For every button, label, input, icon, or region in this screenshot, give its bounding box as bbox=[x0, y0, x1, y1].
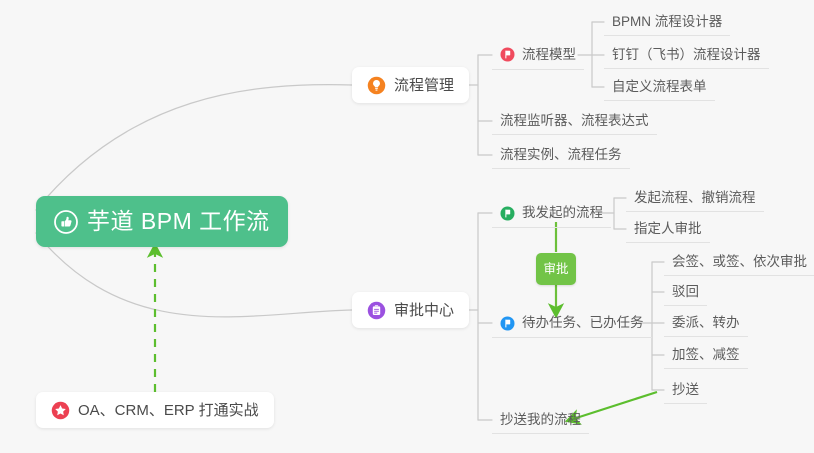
thumbs-up-icon bbox=[54, 210, 78, 234]
node-label-delegate-transfer: 委派、转办 bbox=[672, 316, 740, 330]
node-bpmn-designer[interactable]: BPMN 流程设计器 bbox=[604, 8, 730, 36]
node-my-initiated-process[interactable]: 我发起的流程 bbox=[492, 199, 611, 228]
mindmap-canvas: 芋道 BPM 工作流 OA、CRM、ERP 打通实战 流程管理 bbox=[0, 0, 814, 453]
flag-green-icon bbox=[500, 206, 515, 221]
node-label-process-listener-expression: 流程监听器、流程表达式 bbox=[500, 114, 649, 128]
link-root-to-process-management bbox=[36, 85, 352, 210]
node-process-listener-expression[interactable]: 流程监听器、流程表达式 bbox=[492, 107, 657, 135]
node-process-model[interactable]: 流程模型 bbox=[492, 40, 584, 70]
root-node[interactable]: 芋道 BPM 工作流 bbox=[36, 196, 288, 247]
node-assignee-approval[interactable]: 指定人审批 bbox=[626, 215, 710, 243]
flag-red-icon bbox=[500, 47, 515, 62]
node-reject[interactable]: 驳回 bbox=[664, 279, 707, 306]
bottom-note-label: OA、CRM、ERP 打通实战 bbox=[78, 403, 259, 418]
lightbulb-icon bbox=[367, 76, 386, 95]
node-label-todo-done-task: 待办任务、已办任务 bbox=[522, 316, 644, 330]
node-process-instance-task[interactable]: 流程实例、流程任务 bbox=[492, 141, 630, 169]
node-label-process-model: 流程模型 bbox=[522, 48, 576, 62]
branch-node-process-management[interactable]: 流程管理 bbox=[352, 67, 469, 103]
node-custom-process-form[interactable]: 自定义流程表单 bbox=[604, 73, 715, 101]
tag-cc[interactable]: 抄送 bbox=[664, 377, 707, 404]
branch-label-process-management: 流程管理 bbox=[394, 78, 454, 93]
node-label-dingtalk-feishu-designer: 钉钉（飞书）流程设计器 bbox=[612, 48, 761, 62]
node-label-process-instance-task: 流程实例、流程任务 bbox=[500, 148, 622, 162]
node-start-cancel-process[interactable]: 发起流程、撤销流程 bbox=[626, 185, 764, 212]
flag-blue-icon bbox=[500, 316, 515, 331]
clipboard-icon bbox=[367, 301, 386, 320]
node-dingtalk-feishu-designer[interactable]: 钉钉（飞书）流程设计器 bbox=[604, 41, 769, 69]
branch-label-approval-center: 审批中心 bbox=[394, 303, 454, 318]
root-label: 芋道 BPM 工作流 bbox=[87, 210, 270, 233]
tag-label-cc: 抄送 bbox=[672, 383, 699, 397]
node-todo-done-task[interactable]: 待办任务、已办任务 bbox=[492, 309, 652, 338]
bottom-note-node[interactable]: OA、CRM、ERP 打通实战 bbox=[36, 392, 274, 428]
node-label-cc-my-process: 抄送我的流程 bbox=[500, 413, 581, 427]
node-countersign-orsign-sequential[interactable]: 会签、或签、依次审批 bbox=[664, 249, 814, 276]
node-label-bpmn-designer: BPMN 流程设计器 bbox=[612, 15, 722, 29]
node-cc-my-process[interactable]: 抄送我的流程 bbox=[492, 406, 589, 434]
star-icon bbox=[51, 401, 70, 420]
node-label-countersign-orsign-sequential: 会签、或签、依次审批 bbox=[672, 255, 807, 269]
node-delegate-transfer[interactable]: 委派、转办 bbox=[664, 310, 748, 337]
node-add-remove-sign[interactable]: 加签、减签 bbox=[664, 342, 748, 369]
node-label-start-cancel-process: 发起流程、撤销流程 bbox=[634, 191, 756, 205]
node-label-add-remove-sign: 加签、减签 bbox=[672, 348, 740, 362]
node-label-custom-process-form: 自定义流程表单 bbox=[612, 80, 707, 94]
tag-label-approval: 审批 bbox=[543, 263, 568, 276]
node-label-reject: 驳回 bbox=[672, 285, 699, 299]
node-label-my-initiated-process: 我发起的流程 bbox=[522, 206, 603, 220]
tag-approval[interactable]: 审批 bbox=[536, 253, 576, 285]
node-label-assignee-approval: 指定人审批 bbox=[634, 222, 702, 236]
branch-node-approval-center[interactable]: 审批中心 bbox=[352, 292, 469, 328]
